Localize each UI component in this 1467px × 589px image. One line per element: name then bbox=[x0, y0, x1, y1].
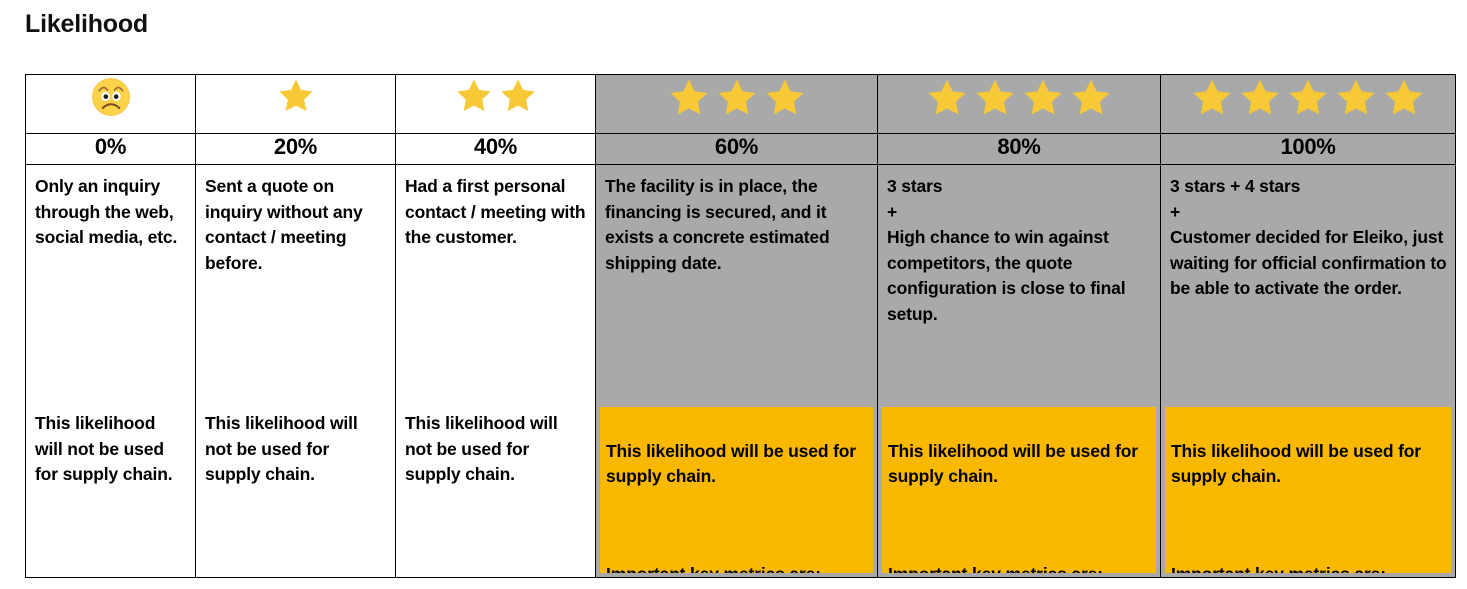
worried-face-emoji bbox=[89, 75, 133, 119]
description-text-0: Only an inquiry through the web, social … bbox=[26, 165, 195, 251]
icon-cell-60 bbox=[596, 75, 878, 134]
star-icon bbox=[1285, 75, 1331, 121]
icon-cell-20 bbox=[196, 75, 396, 134]
note-spacer bbox=[606, 515, 867, 536]
note-metrics-label-60: Important key metrics are: bbox=[606, 562, 867, 573]
note-metrics-label-100: Important key metrics are: bbox=[1171, 562, 1445, 573]
star-icon bbox=[1237, 75, 1283, 121]
star-icon bbox=[1189, 75, 1235, 121]
star-icon bbox=[1333, 75, 1379, 121]
body-cell-80: 3 stars + High chance to win against com… bbox=[878, 165, 1161, 578]
description-row: Only an inquiry through the web, social … bbox=[26, 165, 1456, 578]
note-intro-60: This likelihood will be used for supply … bbox=[606, 439, 867, 490]
supply-chain-note-80: This likelihood will be used for supply … bbox=[882, 407, 1156, 573]
star-icon bbox=[972, 75, 1018, 121]
star-icon bbox=[453, 75, 495, 117]
supply-chain-note-40: This likelihood will not be used for sup… bbox=[405, 411, 587, 488]
supply-chain-note-0: This likelihood will not be used for sup… bbox=[35, 411, 187, 488]
percent-cell-20: 20% bbox=[196, 134, 396, 165]
star-icon bbox=[1381, 75, 1427, 121]
body-cell-20: Sent a quote on inquiry without any cont… bbox=[196, 165, 396, 578]
icon-cell-40 bbox=[396, 75, 596, 134]
star-icon bbox=[762, 75, 808, 121]
likelihood-matrix-table: 0% 20% 40% 60% 80% 100% Only an inquiry … bbox=[25, 74, 1456, 578]
star-icon bbox=[1020, 75, 1066, 121]
star-icon bbox=[666, 75, 712, 121]
page-title: Likelihood bbox=[25, 12, 148, 37]
note-intro-80: This likelihood will be used for supply … bbox=[888, 439, 1150, 490]
percent-cell-60: 60% bbox=[596, 134, 878, 165]
icon-cell-80 bbox=[878, 75, 1161, 134]
percent-cell-80: 80% bbox=[878, 134, 1161, 165]
body-cell-0: Only an inquiry through the web, social … bbox=[26, 165, 196, 578]
description-text-40: Had a first personal contact / meeting w… bbox=[396, 165, 595, 251]
note-spacer bbox=[1171, 515, 1445, 536]
description-text-60: The facility is in place, the financing … bbox=[596, 165, 877, 276]
star-rating-20 bbox=[275, 75, 317, 117]
body-cell-100: 3 stars + 4 stars + Customer decided for… bbox=[1161, 165, 1456, 578]
description-text-80: 3 stars + High chance to win against com… bbox=[878, 165, 1160, 327]
note-intro-100: This likelihood will be used for supply … bbox=[1171, 439, 1445, 490]
star-icon bbox=[1068, 75, 1114, 121]
supply-chain-note-20: This likelihood will not be used for sup… bbox=[205, 411, 387, 488]
star-icon bbox=[714, 75, 760, 121]
star-icon bbox=[497, 75, 539, 117]
percent-cell-100: 100% bbox=[1161, 134, 1456, 165]
supply-chain-note-60: This likelihood will be used for supply … bbox=[600, 407, 873, 573]
star-rating-80 bbox=[924, 75, 1114, 121]
icon-row bbox=[26, 75, 1456, 134]
description-text-20: Sent a quote on inquiry without any cont… bbox=[196, 165, 395, 276]
star-icon bbox=[924, 75, 970, 121]
percent-cell-40: 40% bbox=[396, 134, 596, 165]
body-cell-60: The facility is in place, the financing … bbox=[596, 165, 878, 578]
icon-cell-0 bbox=[26, 75, 196, 134]
percent-row: 0% 20% 40% 60% 80% 100% bbox=[26, 134, 1456, 165]
star-icon bbox=[275, 75, 317, 117]
star-rating-40 bbox=[453, 75, 539, 117]
note-spacer bbox=[888, 515, 1150, 536]
supply-chain-note-100: This likelihood will be used for supply … bbox=[1165, 407, 1451, 573]
percent-cell-0: 0% bbox=[26, 134, 196, 165]
star-rating-100 bbox=[1189, 75, 1427, 121]
body-cell-40: Had a first personal contact / meeting w… bbox=[396, 165, 596, 578]
note-metrics-label-80: Important key metrics are: bbox=[888, 562, 1150, 573]
description-text-100: 3 stars + 4 stars + Customer decided for… bbox=[1161, 165, 1455, 302]
star-rating-60 bbox=[666, 75, 808, 121]
icon-cell-100 bbox=[1161, 75, 1456, 134]
